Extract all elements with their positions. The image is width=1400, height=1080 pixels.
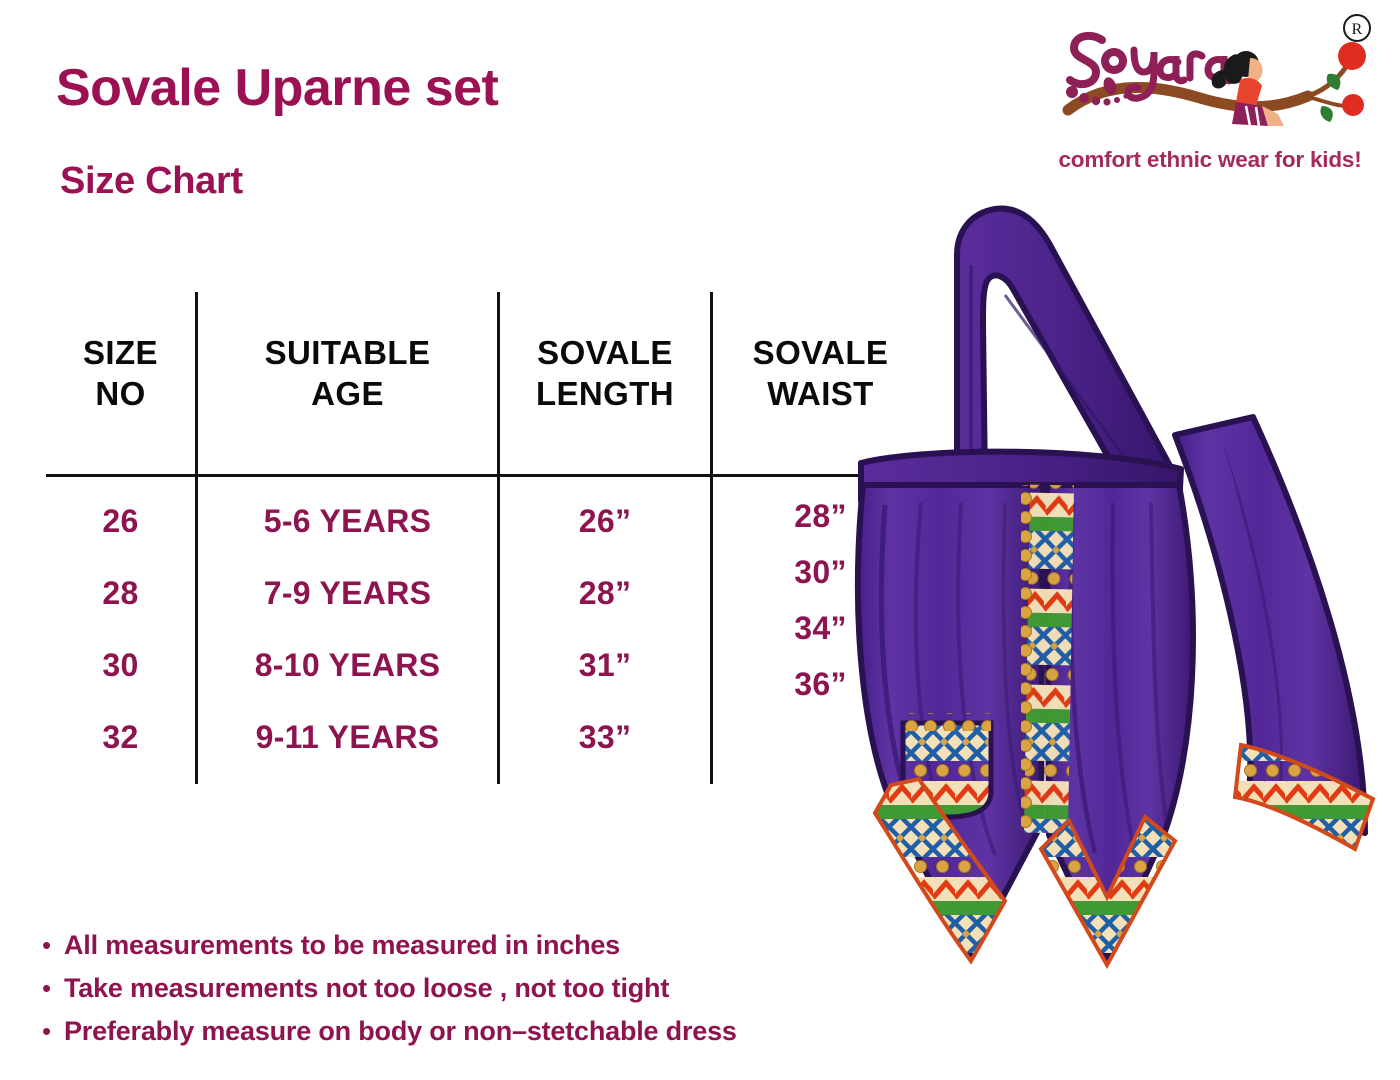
note-text: Take measurements not too loose , not to… xyxy=(64,973,669,1004)
leaf-icon xyxy=(1320,106,1332,122)
table-cell-sovale-length: 33” xyxy=(500,719,710,756)
column-header-line: LENGTH xyxy=(500,373,710,414)
logo-tagline: comfort ethnic wear for kids! xyxy=(1050,147,1370,173)
column-header-line: SOVALE xyxy=(500,332,710,373)
berry-icon xyxy=(1338,42,1366,70)
bullet-icon: • xyxy=(42,932,64,958)
uparne-tail xyxy=(1175,417,1373,849)
list-item: • Take measurements not too loose , not … xyxy=(42,973,942,1004)
size-chart-table: SIZE NO SUITABLE AGE SOVALE LENGTH SOVAL… xyxy=(46,292,928,784)
size-chart-subtitle: Size Chart xyxy=(60,160,243,203)
table-cell-suitable-age: 5-6 YEARS xyxy=(198,503,497,540)
list-item: • All measurements to be measured in inc… xyxy=(42,930,942,961)
column-header-line: NO xyxy=(46,373,195,414)
bullet-icon: • xyxy=(42,1018,64,1044)
embroidered-trim xyxy=(1021,485,1074,834)
table-cell-sovale-length: 26” xyxy=(500,503,710,540)
table-cell-suitable-age: 7-9 YEARS xyxy=(198,575,497,612)
column-header-line: SIZE xyxy=(46,332,195,373)
registered-trademark-icon: R xyxy=(1344,15,1370,41)
table-cell-sovale-length: 31” xyxy=(500,647,710,684)
table-header-rule xyxy=(46,474,928,477)
soyara-logo-art: R xyxy=(1050,14,1390,139)
list-item: • Preferably measure on body or non–stet… xyxy=(42,1016,942,1047)
table-cell-suitable-age: 8-10 YEARS xyxy=(198,647,497,684)
bullet-icon: • xyxy=(42,975,64,1001)
table-cell-suitable-age: 9-11 YEARS xyxy=(198,719,497,756)
product-illustration-sovale-uparne xyxy=(845,185,1400,1005)
table-cell-size-no: 28 xyxy=(46,575,195,612)
column-header-size-no: SIZE NO xyxy=(46,332,195,415)
column-header-line: SUITABLE xyxy=(198,332,497,373)
column-header-suitable-age: SUITABLE AGE xyxy=(198,332,497,415)
branch-icon xyxy=(1068,87,1308,110)
page-title: Sovale Uparne set xyxy=(56,58,498,118)
brand-logo: R comfort ethnic wear for kids! xyxy=(1050,14,1390,174)
note-text: All measurements to be measured in inche… xyxy=(64,930,620,961)
column-header-sovale-length: SOVALE LENGTH xyxy=(500,332,710,415)
table-cell-sovale-length: 28” xyxy=(500,575,710,612)
table-cell-size-no: 26 xyxy=(46,503,195,540)
svg-text:R: R xyxy=(1352,21,1363,38)
measurement-notes-list: • All measurements to be measured in inc… xyxy=(42,930,942,1059)
table-cell-size-no: 32 xyxy=(46,719,195,756)
column-header-line: AGE xyxy=(198,373,497,414)
note-text: Preferably measure on body or non–stetch… xyxy=(64,1016,737,1047)
berry-icon xyxy=(1342,94,1364,116)
table-cell-size-no: 30 xyxy=(46,647,195,684)
